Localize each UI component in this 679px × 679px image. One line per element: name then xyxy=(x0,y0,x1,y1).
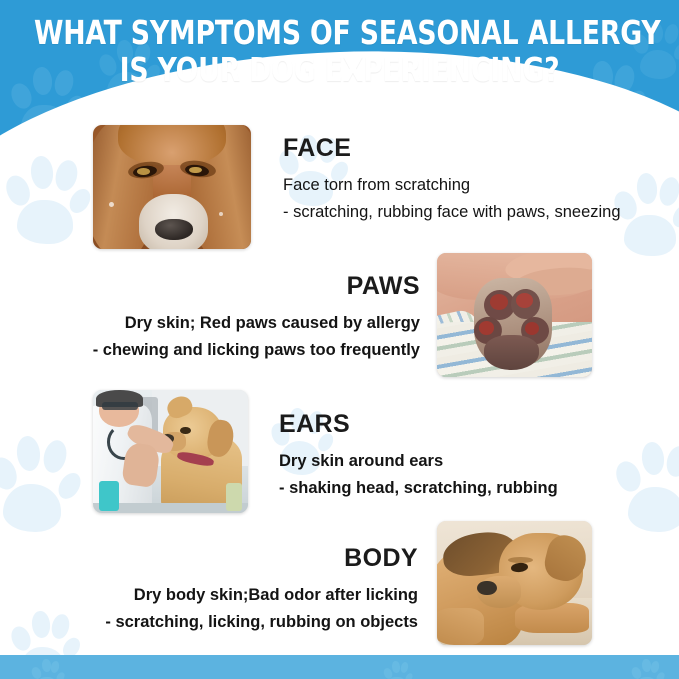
paw-print-watermark xyxy=(382,659,412,679)
ears-photo xyxy=(93,390,248,513)
body-photo xyxy=(437,521,592,645)
title-line-1: WHAT SYMPTOMS OF SEASONAL ALLERGY xyxy=(34,14,645,51)
ears-text-block: EARS Dry skin around ears - shaking head… xyxy=(279,410,669,502)
ears-heading: EARS xyxy=(279,410,669,439)
ears-line-1: Dry skin around ears xyxy=(279,448,669,475)
title-line-2: IS YOUR DOG EXPERIENCING? xyxy=(34,51,645,88)
body-heading: BODY xyxy=(28,544,418,573)
paws-line-2: - chewing and licking paws too frequentl… xyxy=(30,337,420,364)
paw-print-watermark xyxy=(0,430,78,534)
paws-line-1: Dry skin; Red paws caused by allergy xyxy=(30,310,420,337)
paw-print-watermark xyxy=(630,657,664,679)
body-text-block: BODY Dry body skin;Bad odor after lickin… xyxy=(28,544,418,636)
paws-text-block: PAWS Dry skin; Red paws caused by allerg… xyxy=(30,272,420,364)
paws-heading: PAWS xyxy=(30,272,420,301)
body-line-1: Dry body skin;Bad odor after licking xyxy=(28,582,418,609)
ears-line-2: - shaking head, scratching, rubbing xyxy=(279,475,669,502)
face-heading: FACE xyxy=(283,134,663,163)
paw-print-watermark xyxy=(2,150,88,246)
header-banner: WHAT SYMPTOMS OF SEASONAL ALLERGY IS YOU… xyxy=(0,0,679,140)
footer-bar xyxy=(0,655,679,679)
face-line-1: Face torn from scratching xyxy=(283,172,663,199)
page-title: WHAT SYMPTOMS OF SEASONAL ALLERGY IS YOU… xyxy=(0,14,679,88)
body-line-2: - scratching, licking, rubbing on object… xyxy=(28,609,418,636)
paws-photo xyxy=(437,253,592,377)
face-line-2: - scratching, rubbing face with paws, sn… xyxy=(283,199,663,226)
face-photo xyxy=(93,125,251,249)
paw-print-watermark xyxy=(30,657,64,679)
infographic-page: WHAT SYMPTOMS OF SEASONAL ALLERGY IS YOU… xyxy=(0,0,679,679)
face-text-block: FACE Face torn from scratching - scratch… xyxy=(283,134,663,226)
